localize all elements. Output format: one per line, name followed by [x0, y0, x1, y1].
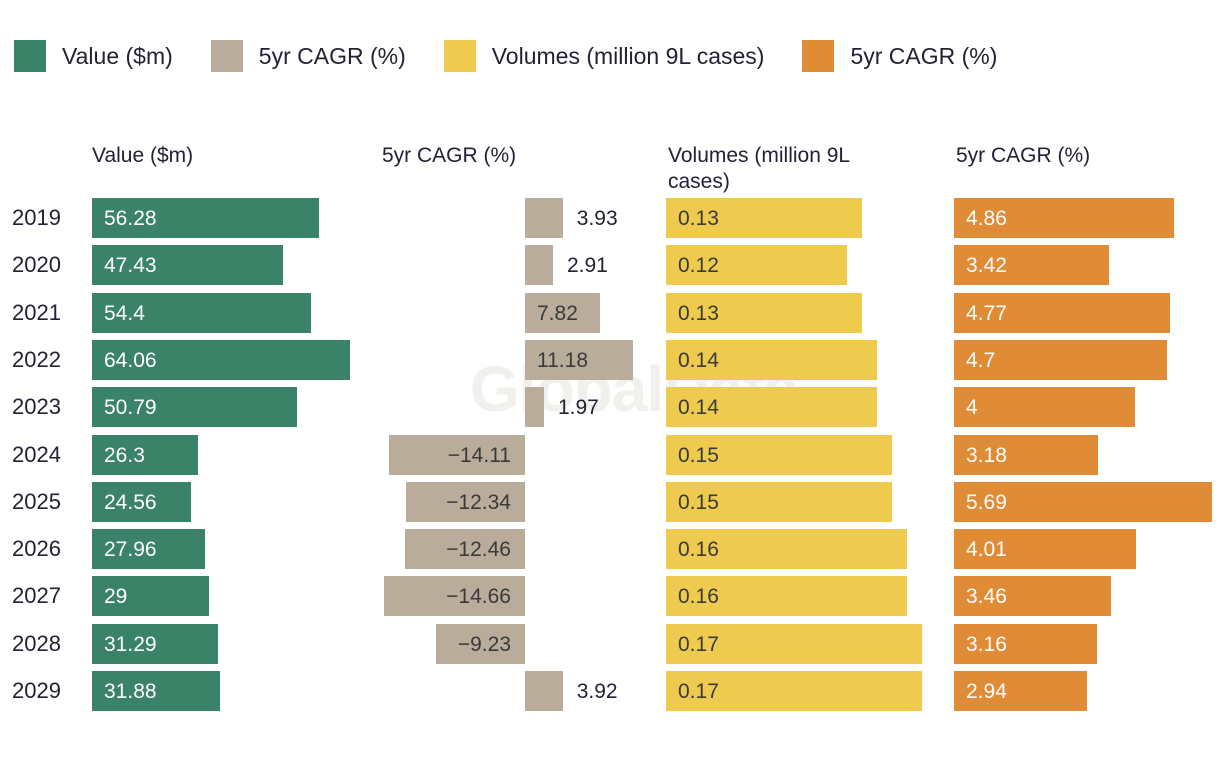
year-label: 2021	[12, 293, 82, 333]
bar[interactable]	[525, 671, 563, 711]
bar-value-label: 4.77	[966, 293, 1007, 333]
bar-value-label: −14.66	[446, 576, 511, 616]
column-header: 5yr CAGR (%)	[382, 143, 632, 169]
year-label: 2025	[12, 482, 82, 522]
bar-value-label: 2.94	[966, 671, 1007, 711]
legend-item-label: Value ($m)	[62, 45, 173, 68]
bar[interactable]	[525, 387, 544, 427]
bar-value-label: 50.79	[104, 387, 157, 427]
bar[interactable]	[525, 198, 563, 238]
bar-value-label: 3.93	[577, 198, 618, 238]
bar-value-label: −9.23	[458, 624, 511, 664]
bar-value-label: 0.17	[678, 671, 719, 711]
year-label: 2022	[12, 340, 82, 380]
bar-value-label: 1.97	[558, 387, 599, 427]
bar-value-label: 0.16	[678, 576, 719, 616]
bar-value-label: 3.42	[966, 245, 1007, 285]
bar[interactable]	[954, 387, 1135, 427]
column-header: 5yr CAGR (%)	[956, 143, 1206, 169]
bar-value-label: 11.18	[537, 340, 588, 380]
legend-item-label: Volumes (million 9L cases)	[492, 45, 765, 68]
bar-value-label: 0.17	[678, 624, 719, 664]
legend-item-label: 5yr CAGR (%)	[259, 45, 406, 68]
bar-value-label: 3.46	[966, 576, 1007, 616]
bar-value-label: 0.14	[678, 340, 719, 380]
bar-value-label: 2.91	[567, 245, 608, 285]
bar-value-label: 0.13	[678, 293, 719, 333]
bar-value-label: 4.7	[966, 340, 995, 380]
bar-value-label: 0.15	[678, 435, 719, 475]
chart-legend: Value ($m)5yr CAGR (%)Volumes (million 9…	[14, 40, 1035, 72]
legend-item[interactable]: Value ($m)	[14, 40, 173, 72]
year-label: 2029	[12, 671, 82, 711]
bar-value-label: 26.3	[104, 435, 145, 475]
bar-value-label: 0.15	[678, 482, 719, 522]
bar-value-label: −14.11	[448, 435, 511, 475]
legend-item[interactable]: 5yr CAGR (%)	[802, 40, 997, 72]
year-label: 2020	[12, 245, 82, 285]
year-label: 2026	[12, 529, 82, 569]
bar-value-label: 31.88	[104, 671, 157, 711]
bar-value-label: 4	[966, 387, 978, 427]
legend-swatch-volumes	[444, 40, 476, 72]
legend-swatch-value	[14, 40, 46, 72]
chart-area: Value ($m)201956.28202047.43202154.42022…	[0, 0, 1220, 762]
year-label: 2028	[12, 624, 82, 664]
bar-value-label: −12.34	[446, 482, 511, 522]
bar-value-label: 64.06	[104, 340, 157, 380]
column-header: Volumes (million 9L cases)	[668, 143, 908, 195]
bar-value-label: 7.82	[537, 293, 578, 333]
column-header: Value ($m)	[92, 143, 342, 169]
bar-value-label: 0.12	[678, 245, 719, 285]
legend-item[interactable]: 5yr CAGR (%)	[211, 40, 406, 72]
bar-value-label: 3.16	[966, 624, 1007, 664]
bar-value-label: 5.69	[966, 482, 1007, 522]
bar-value-label: 0.14	[678, 387, 719, 427]
legend-item-label: 5yr CAGR (%)	[850, 45, 997, 68]
legend-swatch-volumes-cagr	[802, 40, 834, 72]
bar-value-label: 3.18	[966, 435, 1007, 475]
bar-value-label: 31.29	[104, 624, 157, 664]
year-label: 2024	[12, 435, 82, 475]
bar-value-label: 27.96	[104, 529, 157, 569]
bar-value-label: 0.16	[678, 529, 719, 569]
bar-value-label: −12.46	[446, 529, 511, 569]
bar-value-label: 29	[104, 576, 127, 616]
bar-value-label: 4.01	[966, 529, 1007, 569]
bar-value-label: 4.86	[966, 198, 1007, 238]
bar-value-label: 24.56	[104, 482, 157, 522]
legend-swatch-value-cagr	[211, 40, 243, 72]
bar-value-label: 0.13	[678, 198, 719, 238]
year-label: 2027	[12, 576, 82, 616]
bar-value-label: 54.4	[104, 293, 145, 333]
year-label: 2019	[12, 198, 82, 238]
bar-value-label: 47.43	[104, 245, 157, 285]
legend-item[interactable]: Volumes (million 9L cases)	[444, 40, 765, 72]
bar-value-label: 56.28	[104, 198, 157, 238]
bar[interactable]	[525, 245, 553, 285]
year-label: 2023	[12, 387, 82, 427]
bar-value-label: 3.92	[577, 671, 618, 711]
